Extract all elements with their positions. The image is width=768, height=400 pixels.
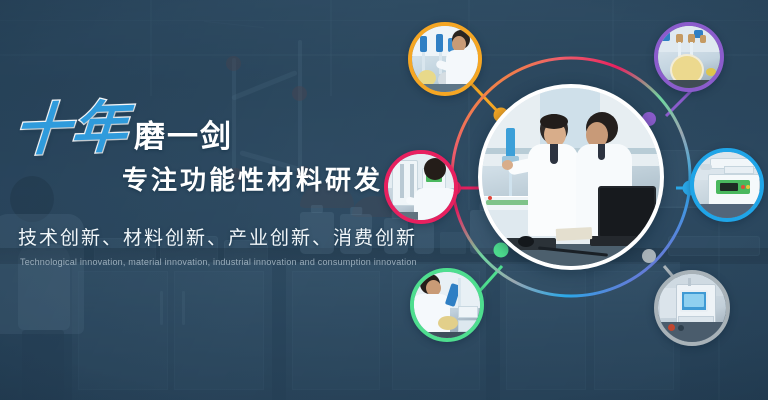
machine-knob (700, 164, 712, 170)
satellite-6-scene (658, 274, 726, 342)
satellite-photo-bottom-right (654, 270, 730, 346)
headline-subline: 专注功能性材料研发 (122, 160, 374, 197)
central-photo-scene (482, 88, 660, 266)
blue-fitting (660, 32, 670, 41)
satellite-photo-top-left (408, 22, 482, 96)
red-knob (668, 324, 675, 331)
researcher-hair (424, 158, 446, 180)
status-light (746, 185, 750, 189)
laptop-keyboard (590, 236, 664, 246)
calligraphy-shinian: 十年 (12, 100, 130, 158)
satellite-1-scene (412, 26, 478, 92)
yellow-item (706, 68, 716, 76)
blue-valve (420, 36, 427, 52)
satellite-photo-bottom-left (410, 268, 484, 342)
bench-unit (458, 306, 478, 318)
bench-unit (458, 320, 478, 332)
promo-banner: 十年 磨一剑 专注功能性材料研发 技术创新、材料创新、产业创新、消费创新 Tec… (0, 0, 768, 400)
satellite-5-scene (414, 272, 480, 338)
blue-apparatus (506, 128, 515, 158)
researcher-1-hand (502, 160, 513, 170)
screen-glow (684, 294, 704, 307)
researcher-1-collar (550, 144, 558, 164)
headline-moyijian: 磨一剑 (134, 120, 233, 156)
sample-dish (438, 316, 458, 330)
machine-bridge (724, 166, 754, 174)
machine-column (410, 164, 414, 198)
machine-column (400, 164, 404, 198)
central-photo (478, 84, 664, 270)
laptop-screen (598, 186, 656, 238)
satellite-photo-top-right (654, 22, 724, 92)
headline-line-1: 十年 磨一剑 (14, 96, 374, 156)
indicator-light (488, 196, 492, 200)
satellite-3-scene (388, 154, 454, 220)
satellite-photo-right (690, 148, 764, 222)
researcher-2-collar (598, 144, 605, 160)
digital-readout (720, 183, 738, 191)
blue-valve (436, 34, 443, 52)
researcher-1-hair-top (540, 114, 568, 129)
tagline-english: Technological innovation, material innov… (20, 257, 374, 267)
satellite-4-scene (694, 152, 760, 218)
machine-probe (688, 278, 691, 286)
circle-cluster-graphic (398, 18, 768, 388)
stand-rod (458, 278, 461, 308)
researcher-labcoat (414, 188, 458, 224)
paper-documents (556, 227, 593, 241)
satellite-2-scene (658, 26, 720, 88)
computer-mouse (518, 236, 534, 247)
satellite-photo-left (384, 150, 458, 224)
status-light (741, 185, 745, 189)
black-knob (678, 325, 684, 331)
tagline-chinese: 技术创新、材料创新、产业创新、消费创新 (18, 223, 374, 250)
headline-block: 十年 磨一剑 专注功能性材料研发 技术创新、材料创新、产业创新、消费创新 Tec… (14, 96, 374, 267)
cork-stopper (700, 35, 706, 43)
